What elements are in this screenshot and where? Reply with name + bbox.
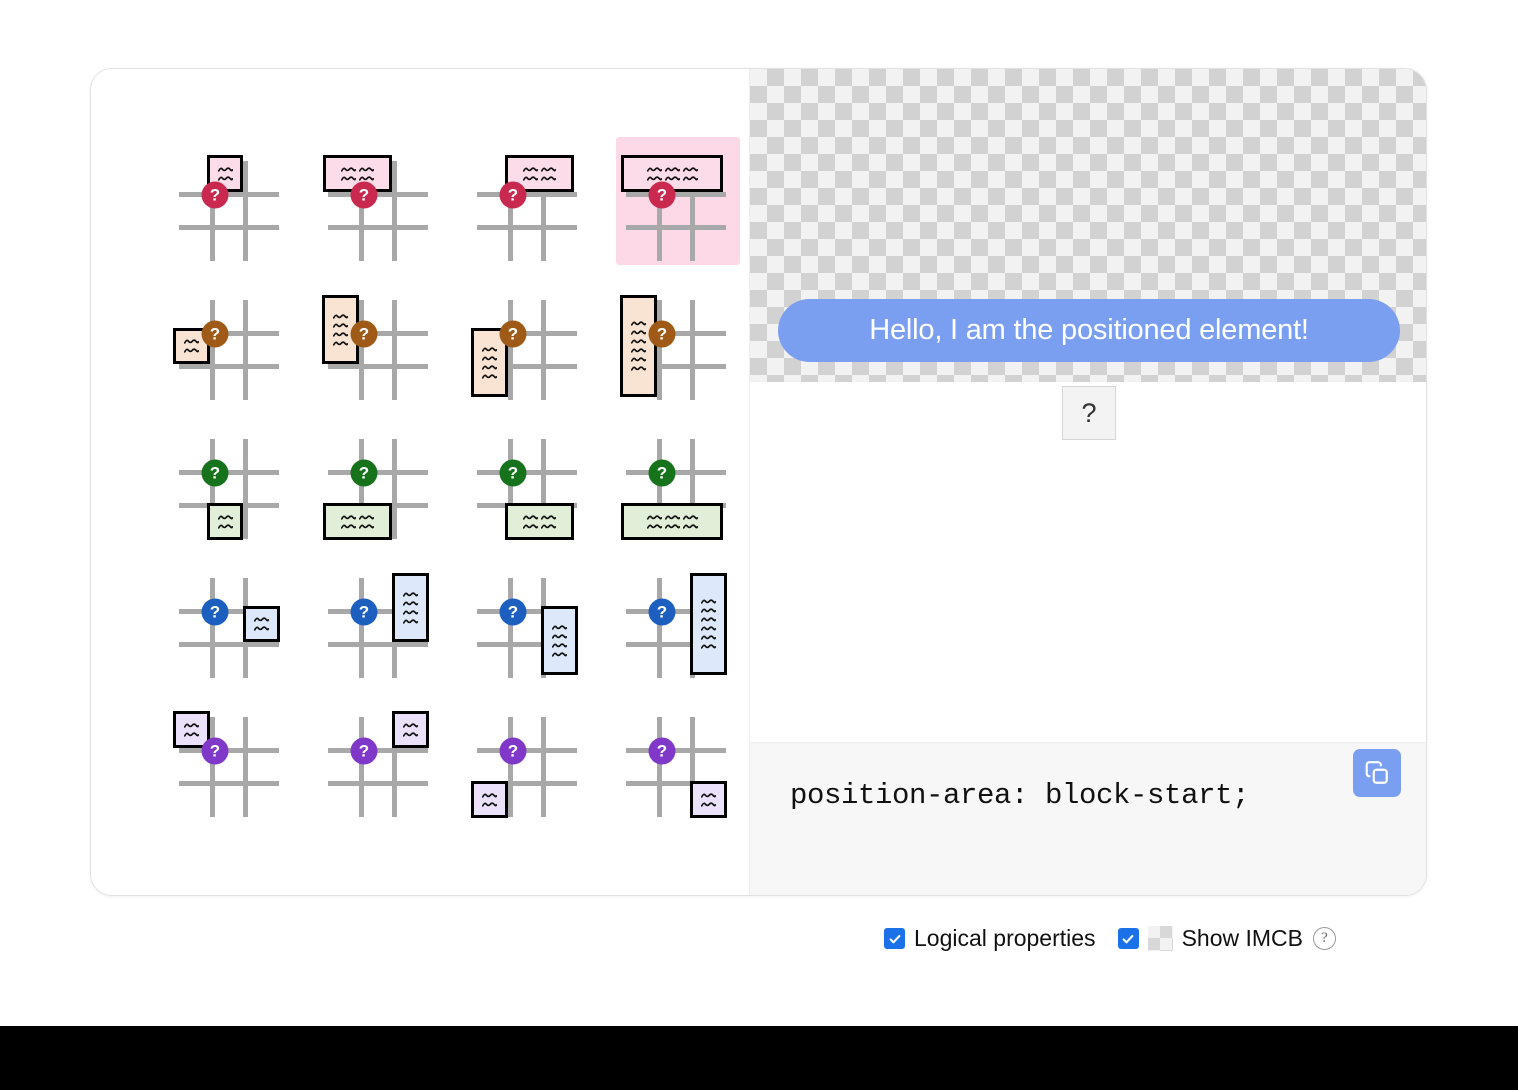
picker-cell-block-start-span-all[interactable]: ? — [614, 133, 746, 272]
anchor-dot: ? — [649, 181, 676, 208]
anchor-dot: ? — [351, 737, 378, 764]
picker-cell-inline-end-span-none[interactable]: ? — [167, 550, 299, 689]
picker-cell-inline-end-span-block-end[interactable]: ? — [465, 550, 597, 689]
positioned-box — [392, 711, 429, 748]
picker-cell-block-end-span-inline-end[interactable]: ? — [465, 411, 597, 550]
positioned-element-bubble: Hello, I am the positioned element! — [778, 299, 1400, 362]
footer-controls: Logical properties Show IMCB ? — [0, 925, 1428, 952]
positioned-box — [323, 503, 392, 540]
picker-cell-block-end-span-none[interactable]: ? — [167, 411, 299, 550]
anchor-dot: ? — [202, 459, 229, 486]
app-root: ???????????????????? Hello, I am the pos… — [0, 0, 1518, 1090]
help-icon[interactable]: ? — [1313, 927, 1336, 950]
code-panel: position-area: block-start; — [750, 742, 1427, 895]
anchor-dot: ? — [202, 181, 229, 208]
position-area-picker[interactable]: ???????????????????? — [167, 133, 746, 828]
picker-cell-block-start-span-inline-end[interactable]: ? — [465, 133, 597, 272]
show-imcb-checkbox[interactable] — [1118, 928, 1139, 949]
logical-properties-label: Logical properties — [914, 925, 1096, 952]
anchor-dot: ? — [649, 459, 676, 486]
picker-cell-inline-end-span-block-start[interactable]: ? — [316, 550, 448, 689]
logical-properties-checkbox[interactable] — [884, 928, 905, 949]
show-imcb-control[interactable]: Show IMCB — [1118, 925, 1303, 952]
copy-icon[interactable] — [1353, 749, 1401, 797]
positioned-box — [690, 781, 727, 818]
picker-cell-inline-start-span-block-start[interactable]: ? — [316, 272, 448, 411]
code-declaration: position-area: block-start; — [790, 779, 1249, 812]
positioned-box — [207, 503, 243, 540]
anchor-dot: ? — [351, 598, 378, 625]
positioned-box — [690, 573, 727, 675]
anchor-dot: ? — [500, 737, 527, 764]
picker-cell-start-start[interactable]: ? — [167, 689, 299, 828]
position-area-card: ???????????????????? Hello, I am the pos… — [90, 68, 1427, 896]
positioned-box — [620, 295, 657, 397]
anchor-dot: ? — [351, 320, 378, 347]
picker-cell-start-end[interactable]: ? — [316, 689, 448, 828]
anchor-dot: ? — [649, 598, 676, 625]
picker-cell-block-start-span-inline-start[interactable]: ? — [316, 133, 448, 272]
anchor-element: ? — [1062, 386, 1116, 440]
picker-cell-block-start-span-none[interactable]: ? — [167, 133, 299, 272]
imcb-region: Hello, I am the positioned element! — [750, 69, 1427, 382]
anchor-dot: ? — [351, 459, 378, 486]
anchor-dot: ? — [202, 320, 229, 347]
anchor-dot: ? — [500, 320, 527, 347]
picker-cell-inline-start-span-block-end[interactable]: ? — [465, 272, 597, 411]
positioned-box — [243, 606, 280, 642]
picker-panel: ???????????????????? — [91, 69, 750, 895]
anchor-dot: ? — [202, 737, 229, 764]
positioned-box — [541, 606, 578, 675]
positioned-box — [471, 781, 508, 818]
anchor-dot: ? — [649, 737, 676, 764]
picker-cell-inline-end-span-all[interactable]: ? — [614, 550, 746, 689]
picker-cell-inline-start-span-all[interactable]: ? — [614, 272, 746, 411]
anchor-dot: ? — [500, 598, 527, 625]
preview-panel: Hello, I am the positioned element! ? po… — [750, 69, 1426, 895]
positioned-box — [505, 503, 574, 540]
picker-cell-end-end[interactable]: ? — [614, 689, 746, 828]
picker-cell-block-end-span-all[interactable]: ? — [614, 411, 746, 550]
anchor-dot: ? — [500, 181, 527, 208]
picker-cell-block-end-span-inline-start[interactable]: ? — [316, 411, 448, 550]
anchor-dot: ? — [351, 181, 378, 208]
bottom-bar — [0, 1026, 1518, 1090]
imcb-checkerboard-swatch — [1148, 926, 1173, 951]
positioned-box — [621, 503, 723, 540]
anchor-dot: ? — [500, 459, 527, 486]
positioned-box — [392, 573, 429, 642]
anchor-dot: ? — [202, 598, 229, 625]
picker-cell-inline-start-span-none[interactable]: ? — [167, 272, 299, 411]
show-imcb-label: Show IMCB — [1182, 925, 1303, 952]
logical-properties-control[interactable]: Logical properties — [884, 925, 1096, 952]
picker-cell-end-start[interactable]: ? — [465, 689, 597, 828]
anchor-dot: ? — [649, 320, 676, 347]
